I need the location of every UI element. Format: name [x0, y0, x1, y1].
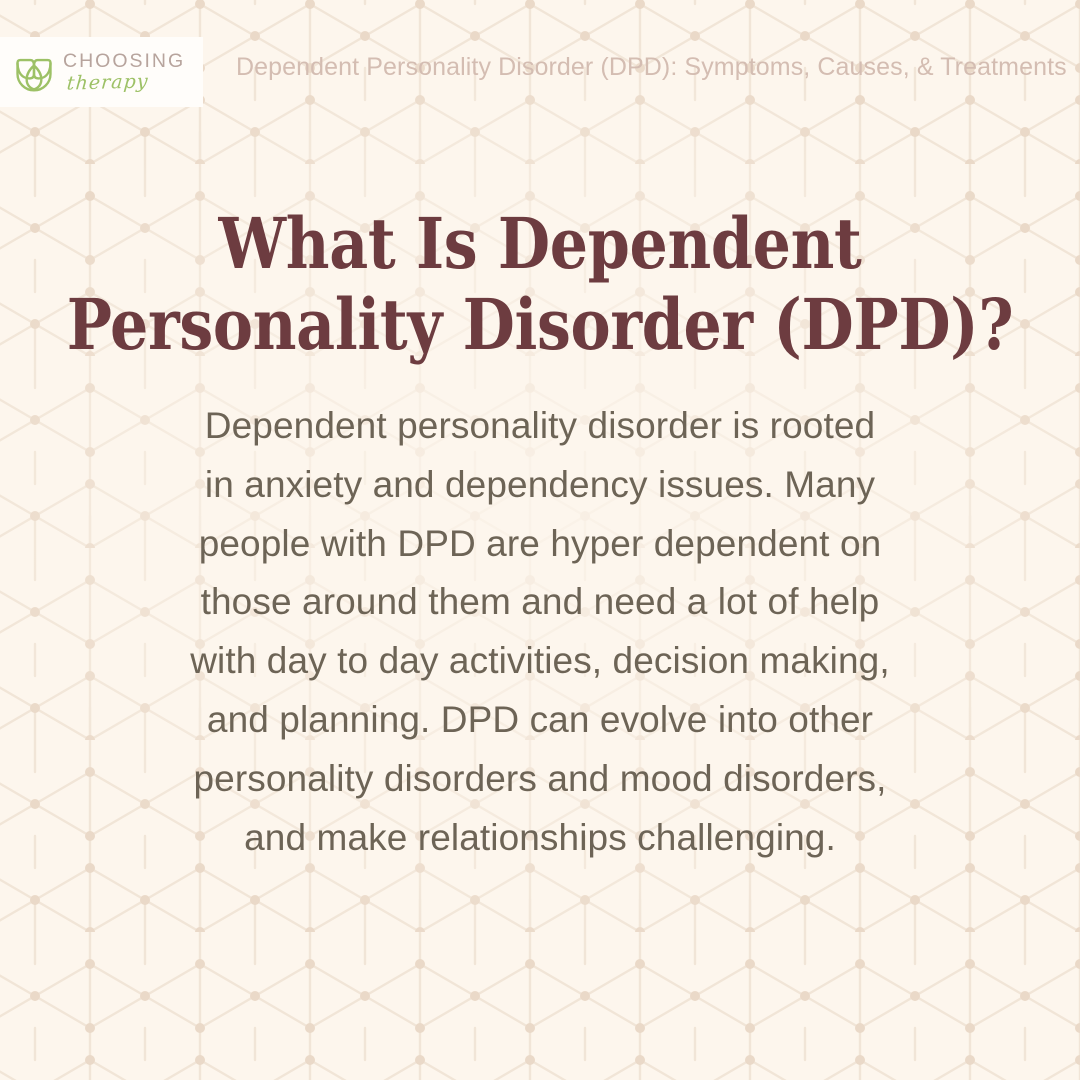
- body-line: personality disorders and mood disorders…: [140, 750, 940, 809]
- page-title: What Is Dependent Personality Disorder (…: [41, 203, 1039, 365]
- page-title-line: What Is Dependent: [41, 203, 1039, 284]
- brand-logo-badge[interactable]: CHOOSING therapy: [0, 37, 203, 107]
- page-title-line: Personality Disorder (DPD)?: [41, 284, 1039, 365]
- brand-wordmark: CHOOSING therapy: [63, 52, 185, 93]
- brand-name-primary: CHOOSING: [63, 52, 185, 72]
- lotus-leaf-icon: [12, 50, 56, 94]
- infographic-canvas: CHOOSING therapy Dependent Personality D…: [0, 0, 1080, 1080]
- body-line: and make relationships challenging.: [140, 809, 940, 868]
- main-content: What Is Dependent Personality Disorder (…: [0, 0, 1080, 1080]
- body-line: in anxiety and dependency issues. Many: [140, 456, 940, 515]
- body-line: people with DPD are hyper dependent on: [140, 515, 940, 574]
- body-line: those around them and need a lot of help: [140, 573, 940, 632]
- body-paragraph: Dependent personality disorder is rooted…: [140, 397, 940, 868]
- article-header-title: Dependent Personality Disorder (DPD): Sy…: [236, 52, 1066, 82]
- brand-name-secondary: therapy: [66, 72, 186, 94]
- body-line: Dependent personality disorder is rooted: [140, 397, 940, 456]
- body-line: with day to day activities, decision mak…: [140, 632, 940, 691]
- body-line: and planning. DPD can evolve into other: [140, 691, 940, 750]
